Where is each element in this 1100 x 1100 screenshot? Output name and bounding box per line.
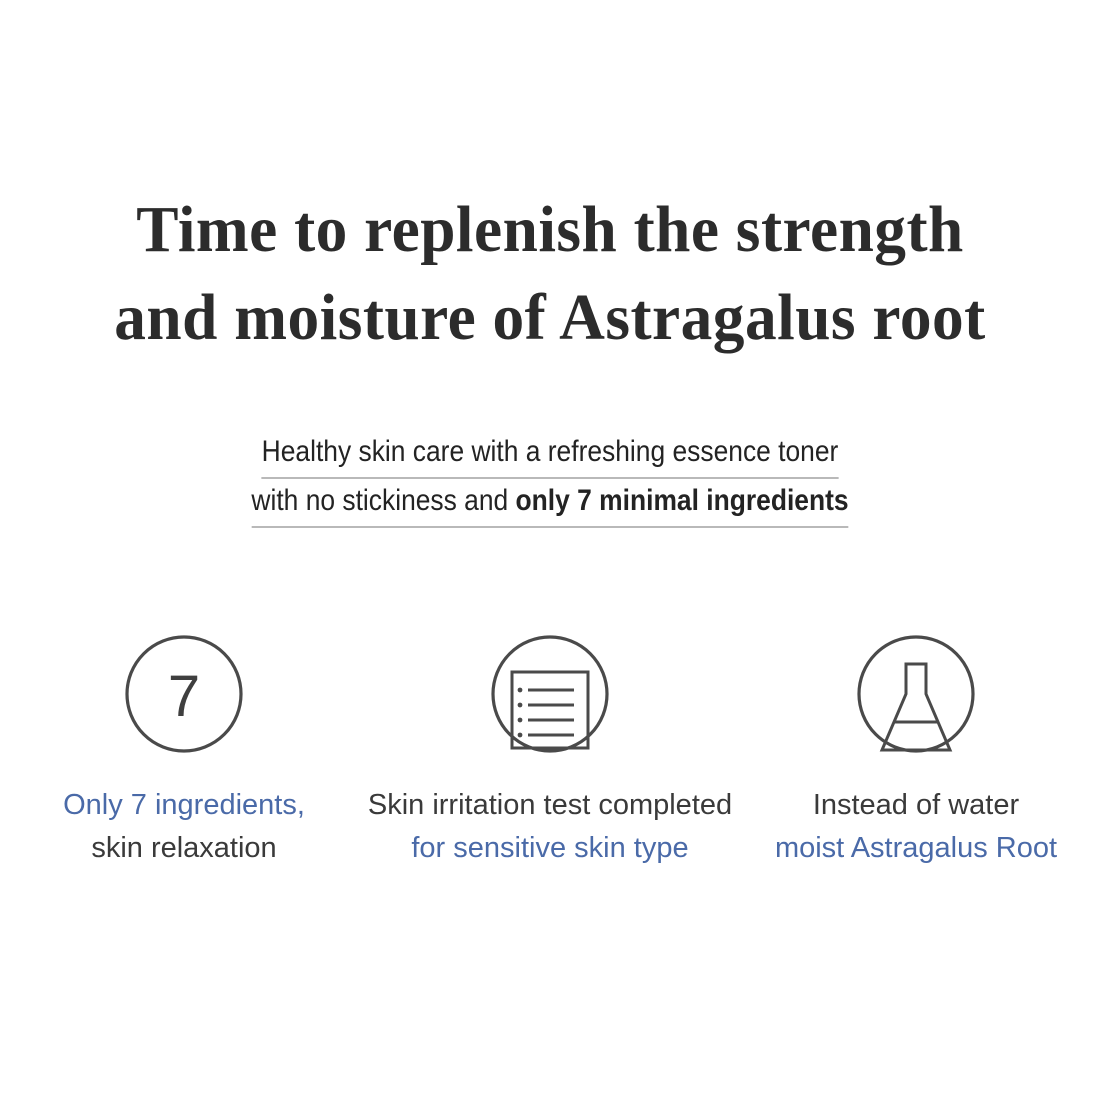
circle-number-seven-icon: 7 (122, 632, 246, 756)
seven-glyph: 7 (168, 664, 200, 729)
caption-line-2: moist Astragalus Root (775, 827, 1057, 870)
headline-emphasis-moisture: moisture (234, 281, 476, 354)
caption-line-1: Skin irritation test completed (368, 784, 732, 827)
feature-list: 7 Only 7 ingredients, skin relaxation (0, 632, 1100, 870)
subtitle-line-2-prefix: with no stickiness and (251, 484, 515, 517)
caption-line-2: skin relaxation (63, 827, 305, 870)
subtitle-line-1: Healthy skin care with a refreshing esse… (66, 430, 1034, 479)
page-title: Time to replenish the strength and moist… (22, 186, 1078, 362)
feature-item-irritation-test: Skin irritation test completed for sensi… (367, 632, 733, 870)
feature-caption-ingredients: Only 7 ingredients, skin relaxation (63, 784, 305, 870)
erlenmeyer-flask-icon (854, 632, 978, 756)
feature-caption-astragalus-water: Instead of water moist Astragalus Root (775, 784, 1057, 870)
feature-caption-irritation-test: Skin irritation test completed for sensi… (368, 784, 732, 870)
feature-item-ingredients: 7 Only 7 ingredients, skin relaxation (1, 632, 367, 870)
headline-line-2: and moisture of Astragalus root (22, 274, 1078, 362)
headline-line-2-suffix: of Astragalus root (476, 281, 986, 354)
subtitle-line-2: with no stickiness and only 7 minimal in… (66, 479, 1034, 528)
caption-line-1: Instead of water (775, 784, 1057, 827)
subtitle-line-1-text: Healthy skin care with a refreshing esse… (262, 430, 839, 479)
feature-item-astragalus-water: Instead of water moist Astragalus Root (733, 632, 1099, 870)
promo-canvas: Time to replenish the strength and moist… (0, 0, 1100, 1100)
document-checklist-icon (488, 632, 612, 756)
subtitle-line-2-text: with no stickiness and only 7 minimal in… (251, 479, 848, 528)
caption-line-2: for sensitive skin type (368, 827, 732, 870)
headline-line-2-prefix: and (114, 281, 234, 354)
caption-line-1: Only 7 ingredients, (63, 784, 305, 827)
subtitle-emphasis-ingredients: only 7 minimal ingredients (516, 484, 849, 517)
subtitle: Healthy skin care with a refreshing esse… (0, 430, 1100, 528)
headline-line-1: Time to replenish the strength (22, 186, 1078, 274)
